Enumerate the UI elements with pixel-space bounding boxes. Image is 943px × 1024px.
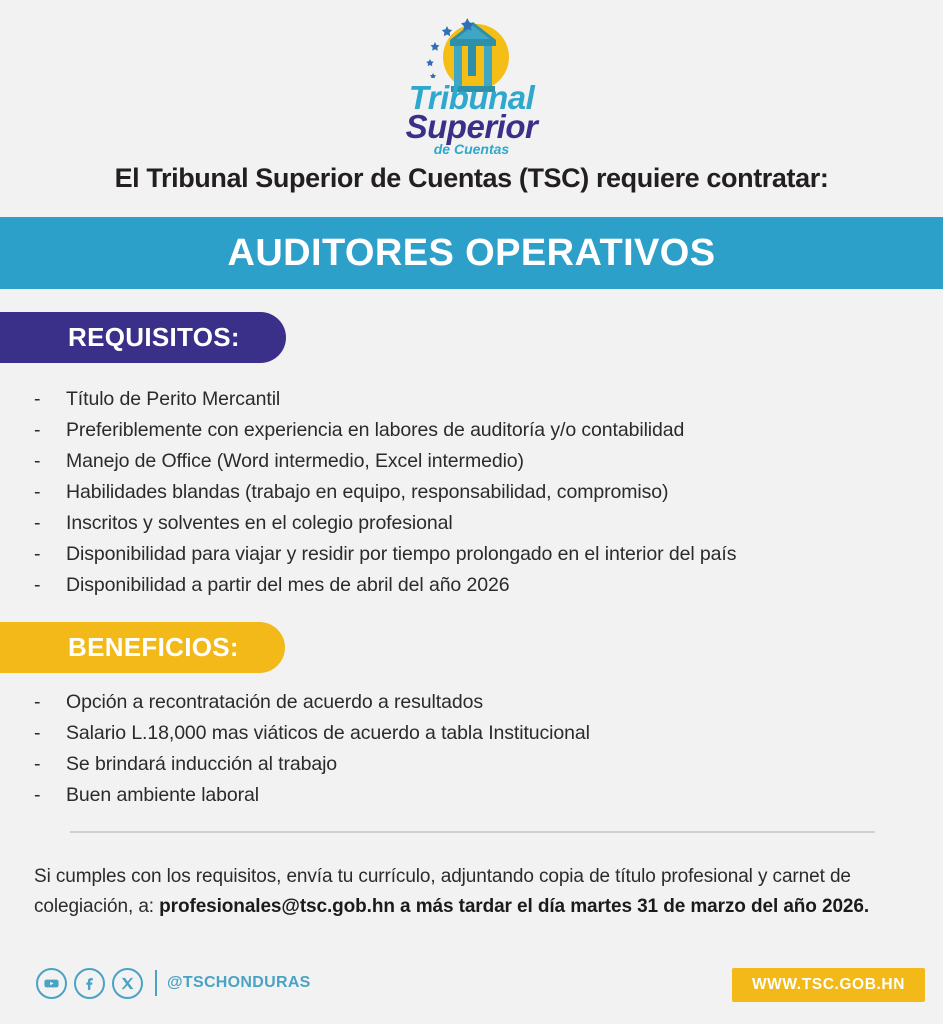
list-bullet: - [34, 384, 66, 415]
section-badge-label: REQUISITOS: [68, 322, 240, 353]
beneficios-list: -Opción a recontratación de acuerdo a re… [34, 687, 903, 811]
social-handle[interactable]: @TSCHONDURAS [167, 974, 311, 992]
list-bullet: - [34, 539, 66, 570]
list-item-text: Se brindará inducción al trabajo [66, 749, 337, 780]
website-button[interactable]: WWW.TSC.GOB.HN [732, 968, 925, 1002]
list-bullet: - [34, 570, 66, 601]
section-badge-beneficios: BENEFICIOS: [0, 622, 285, 673]
list-bullet: - [34, 446, 66, 477]
list-bullet: - [34, 415, 66, 446]
list-item-text: Preferiblemente con experiencia en labor… [66, 415, 684, 446]
list-item: -Disponibilidad a partir del mes de abri… [34, 570, 903, 601]
list-item: -Opción a recontratación de acuerdo a re… [34, 687, 903, 718]
closing-paragraph: Si cumples con los requisitos, envía tu … [34, 862, 903, 922]
section-badge-requisitos: REQUISITOS: [0, 312, 286, 363]
list-item: -Disponibilidad para viajar y residir po… [34, 539, 903, 570]
list-bullet: - [34, 780, 66, 811]
list-bullet: - [34, 477, 66, 508]
list-bullet: - [34, 749, 66, 780]
list-item-text: Disponibilidad para viajar y residir por… [66, 539, 736, 570]
position-banner: AUDITORES OPERATIVOS [0, 217, 943, 289]
list-bullet: - [34, 687, 66, 718]
list-item-text: Inscritos y solventes en el colegio prof… [66, 508, 453, 539]
list-bullet: - [34, 718, 66, 749]
logo-mark [397, 16, 547, 88]
job-posting-poster: Tribunal Superior de Cuentas El Tribunal… [0, 0, 943, 1024]
list-item-text: Manejo de Office (Word intermedio, Excel… [66, 446, 524, 477]
page-title: El Tribunal Superior de Cuentas (TSC) re… [0, 163, 943, 194]
list-item: -Buen ambiente laboral [34, 780, 903, 811]
section-badge-label: BENEFICIOS: [68, 632, 239, 663]
list-item-text: Habilidades blandas (trabajo en equipo, … [66, 477, 668, 508]
list-item-text: Buen ambiente laboral [66, 780, 259, 811]
closing-email-deadline[interactable]: profesionales@tsc.gob.hn a más tardar el… [159, 896, 869, 917]
divider [70, 831, 875, 833]
logo-wordmark: Tribunal Superior de Cuentas [406, 82, 538, 156]
stars-icon [419, 16, 489, 78]
separator [155, 970, 157, 996]
list-item: -Manejo de Office (Word intermedio, Exce… [34, 446, 903, 477]
youtube-icon[interactable] [36, 968, 67, 999]
list-bullet: - [34, 508, 66, 539]
list-item: -Salario L.18,000 mas viáticos de acuerd… [34, 718, 903, 749]
list-item-text: Título de Perito Mercantil [66, 384, 280, 415]
facebook-icon[interactable] [74, 968, 105, 999]
list-item: -Inscritos y solventes en el colegio pro… [34, 508, 903, 539]
list-item-text: Opción a recontratación de acuerdo a res… [66, 687, 483, 718]
position-title: AUDITORES OPERATIVOS [228, 232, 716, 275]
requisitos-list: -Título de Perito Mercantil-Preferibleme… [34, 384, 903, 601]
list-item: -Título de Perito Mercantil [34, 384, 903, 415]
x-twitter-icon[interactable] [112, 968, 143, 999]
list-item: -Preferiblemente con experiencia en labo… [34, 415, 903, 446]
list-item: -Se brindará inducción al trabajo [34, 749, 903, 780]
list-item-text: Salario L.18,000 mas viáticos de acuerdo… [66, 718, 590, 749]
list-item: -Habilidades blandas (trabajo en equipo,… [34, 477, 903, 508]
list-item-text: Disponibilidad a partir del mes de abril… [66, 570, 509, 601]
footer-social-bar: @TSCHONDURAS [36, 963, 311, 1003]
logo-line-superior: Superior [406, 111, 538, 142]
tsc-logo: Tribunal Superior de Cuentas [0, 16, 943, 156]
